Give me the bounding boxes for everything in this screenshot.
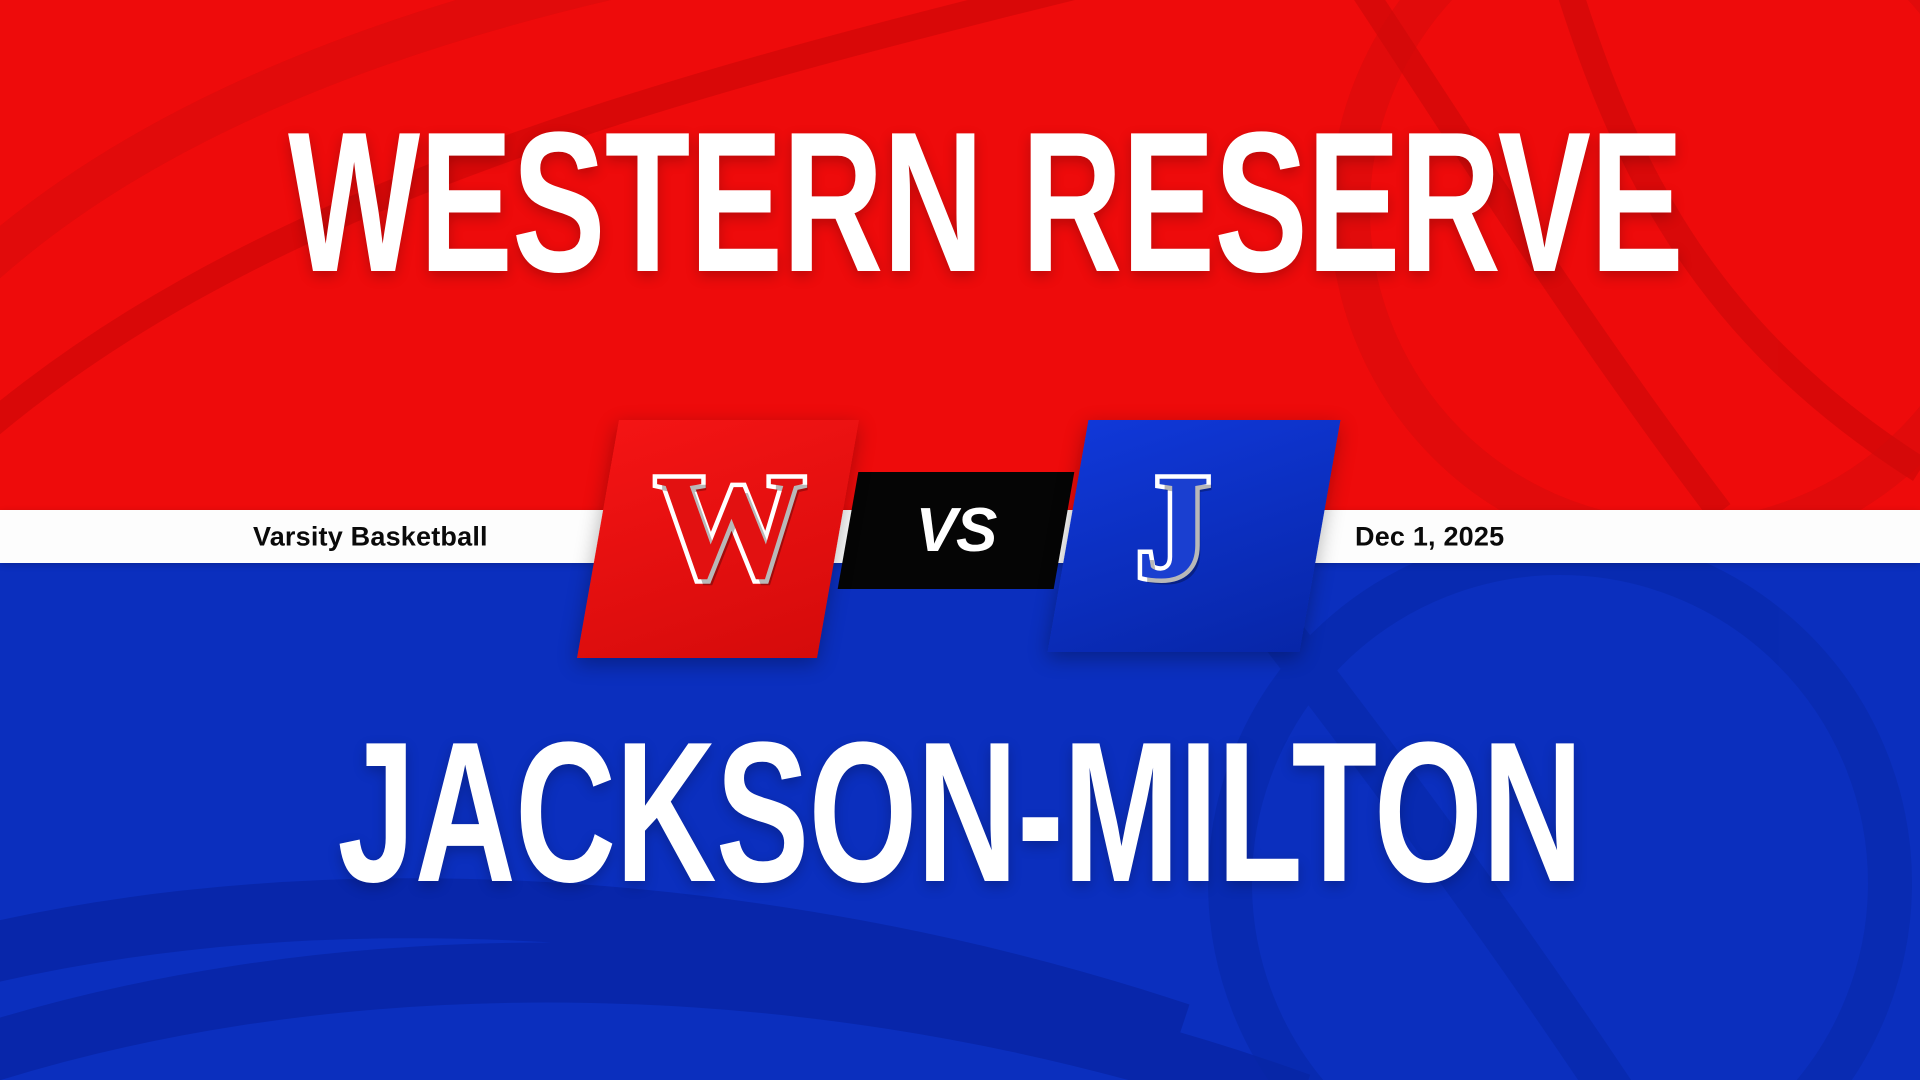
- game-date-label: Dec 1, 2025: [1355, 521, 1504, 552]
- western-reserve-w-logo: W: [640, 452, 820, 602]
- jackson-milton-j-logo: J: [1098, 452, 1248, 602]
- away-team-name: JACKSON-MILTON: [288, 718, 1632, 908]
- matchup-graphic: WESTERN RESERVE JACKSON-MILTON Varsity B…: [0, 0, 1920, 1080]
- versus-label: VS: [848, 472, 1064, 589]
- home-team-name: WESTERN RESERVE: [288, 108, 1632, 298]
- sport-label: Varsity Basketball: [253, 521, 488, 552]
